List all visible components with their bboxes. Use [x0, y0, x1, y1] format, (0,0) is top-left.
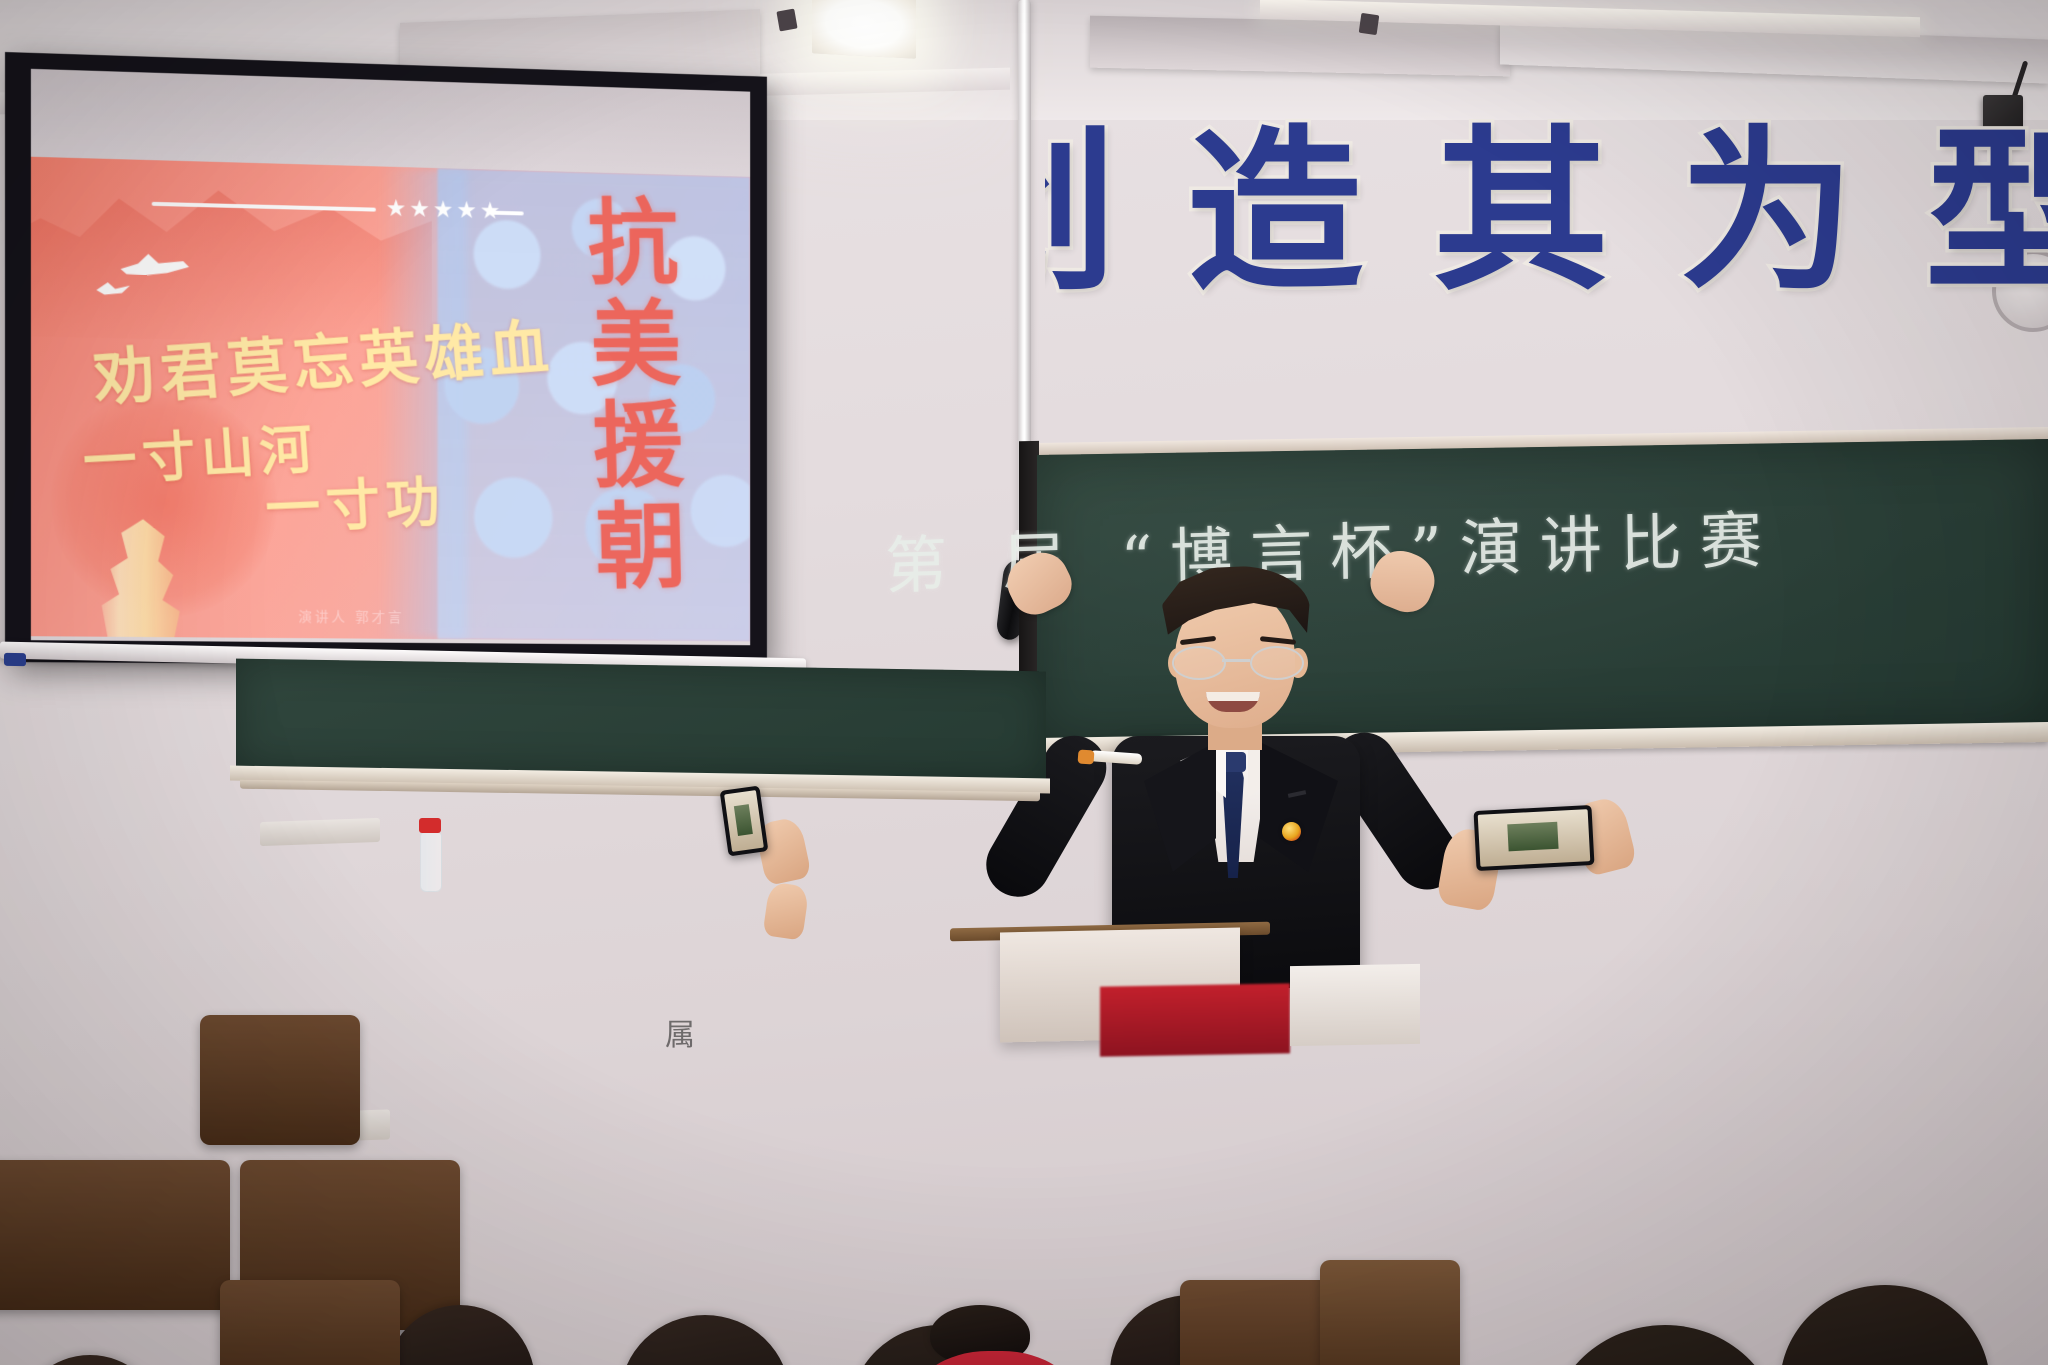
- phone-screen: [1478, 809, 1591, 867]
- slide-vertical-red-text: 抗美援朝: [544, 193, 729, 603]
- person-hair: [1550, 1325, 1780, 1365]
- pull-down-projection-screen[interactable]: 抗美援朝 ★★★★★ 劝君莫忘英雄血 一寸山河 一寸功 演讲人 郭才言: [5, 52, 767, 667]
- phone-preview-image: [1507, 822, 1559, 852]
- ceiling-beam: [1090, 16, 1510, 77]
- slide-headline-3: 一寸功: [263, 458, 447, 545]
- water-bottle[interactable]: [420, 832, 442, 892]
- slide-divider-rule: [152, 202, 376, 212]
- chair[interactable]: [1320, 1260, 1460, 1365]
- wall-char-4: 型: [1925, 125, 2048, 301]
- wall-char-partial: 创: [1045, 125, 1117, 301]
- eyeglass-lens-right: [1250, 646, 1304, 680]
- eyeglasses-icon: [1172, 646, 1300, 676]
- person-hair: [1780, 1285, 1990, 1365]
- desk: [260, 818, 380, 846]
- lapel-badge-icon: [1282, 822, 1301, 841]
- person-hair: [620, 1315, 790, 1365]
- smartphone-camera[interactable]: [1474, 805, 1595, 871]
- star-icon: ★★★★★: [386, 194, 504, 226]
- slide-credit: 演讲人 郭才言: [298, 607, 404, 628]
- chalk-stick-orange[interactable]: [1078, 749, 1095, 764]
- phone-screen: [724, 790, 764, 852]
- audience-group: 属: [0, 860, 2048, 1365]
- eyeglass-lens-left: [1172, 646, 1226, 680]
- chair[interactable]: [220, 1280, 400, 1365]
- screen-surface: 抗美援朝 ★★★★★ 劝君莫忘英雄血 一寸山河 一寸功 演讲人 郭才言: [31, 69, 750, 645]
- wall-char-2: 其: [1433, 125, 1609, 301]
- wall-char-1: 造: [1187, 125, 1363, 301]
- wall-char-3: 为: [1679, 125, 1855, 301]
- phone-preview-image: [734, 804, 753, 836]
- ceiling-mount-icon: [776, 9, 797, 32]
- screen-roller-knob[interactable]: [4, 653, 26, 666]
- chair[interactable]: [0, 1160, 230, 1310]
- hand: [762, 881, 809, 940]
- lower-blackboard-panel: [236, 659, 1046, 782]
- speaker-teeth: [1206, 692, 1260, 701]
- projector-slide: 抗美援朝 ★★★★★ 劝君莫忘英雄血 一寸山河 一寸功 演讲人 郭才言: [31, 157, 750, 642]
- ceiling-mount-icon: [1359, 13, 1380, 35]
- ceiling-light-panel: [812, 0, 916, 59]
- eyeglass-bridge: [1222, 659, 1250, 662]
- bottle-cap: [419, 818, 441, 833]
- chair[interactable]: [200, 1015, 360, 1145]
- wall-banner: 创 造 其 为 型: [1045, 125, 2048, 301]
- classroom-scene: 创 造 其 为 型 抗美援朝 ★★★★★ 劝君莫忘英雄血 一寸山河 一寸功: [0, 0, 2048, 1365]
- person-hair: [20, 1355, 160, 1365]
- tshirt-graphic: 属: [665, 1010, 695, 1054]
